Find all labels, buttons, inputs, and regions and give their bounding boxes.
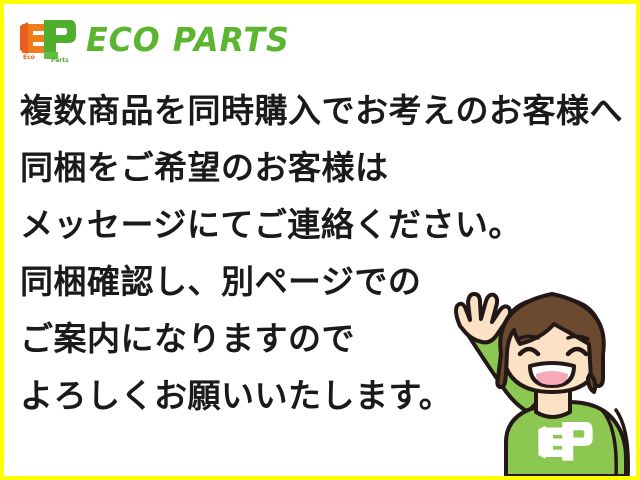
promo-banner: Eco Parts ECO PARTS 複数商品を同時購入でお考えのお客様へ 同… <box>0 0 640 480</box>
brand-header: Eco Parts ECO PARTS <box>18 14 298 64</box>
brand-wordmark: ECO PARTS <box>86 23 290 56</box>
svg-text:Eco: Eco <box>23 54 35 61</box>
waving-woman-illustration <box>402 282 634 476</box>
message-line: メッセージにてご連絡ください。 <box>20 196 628 253</box>
message-line: 複数商品を同時購入でお考えのお客様へ <box>20 82 628 139</box>
message-line: 同梱をご希望のお客様は <box>20 139 628 196</box>
ep-monogram-icon: Eco Parts <box>18 16 76 62</box>
svg-text:Parts: Parts <box>51 57 69 62</box>
